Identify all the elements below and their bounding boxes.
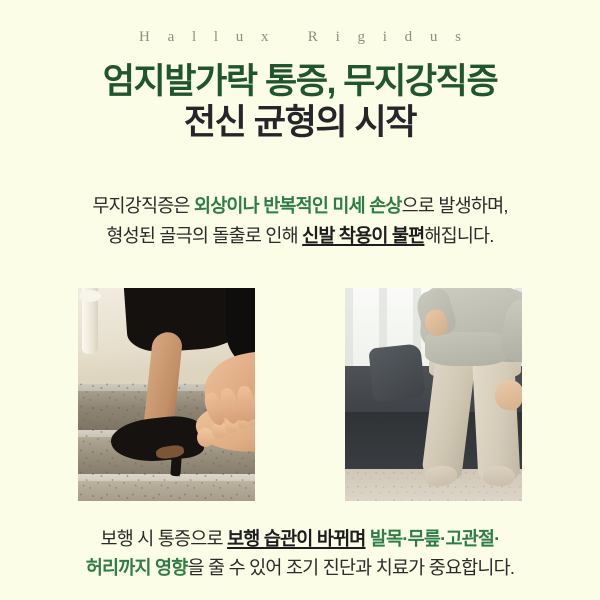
page-title: 엄지발가락 통증, 무지강직증 전신 균형의 시작 <box>103 62 498 143</box>
footer-row1-part1: 보행 시 통증으로 <box>101 528 228 549</box>
photo-strip <box>38 272 562 485</box>
lead-row-2: 형성된 골극의 돌출로 인해 신발 착용이 불편해집니다. <box>30 221 570 251</box>
eyebrow-latin-name: H a l l u x R i g i d u s <box>132 30 468 45</box>
photo-man-holding-back-and-knee <box>345 288 522 501</box>
footer-row1-highlight-green: 발목·무릎·고관절· <box>366 528 500 549</box>
shirt-tail <box>425 332 511 366</box>
lead-row1-highlight: 외상이나 반복적인 미세 손상 <box>194 195 402 216</box>
stair-railing-post <box>82 288 98 354</box>
footer-row-1: 보행 시 통증으로 보행 습관이 바뀌며 발목·무릎·고관절· <box>30 524 570 554</box>
photo-woman-holding-foot-on-stairs <box>78 288 255 501</box>
headline-line-1: 엄지발가락 통증, 무지강직증 <box>103 62 498 103</box>
infographic-card: H a l l u x R i g i d u s 엄지발가락 통증, 무지강직… <box>0 0 600 600</box>
lead-row2-part1: 형성된 골극의 돌출로 인해 <box>106 225 302 246</box>
footer-row2-part2: 을 줄 수 있어 조기 진단과 치료가 중요합니다. <box>187 557 514 578</box>
trouser-leg-right <box>472 347 521 481</box>
footer-row2-highlight-green: 허리까지 영향 <box>86 557 188 578</box>
footer-row1-highlight-dark: 보행 습관이 바뀌며 <box>227 528 365 549</box>
lead-row1-part3: 으로 발생하며, <box>402 195 508 216</box>
lead-paragraph: 무지강직증은 외상이나 반복적인 미세 손상으로 발생하며, 형성된 골극의 돌… <box>30 191 570 251</box>
footer-row-2: 허리까지 영향을 줄 수 있어 조기 진단과 치료가 중요합니다. <box>30 553 570 583</box>
sofa-cushion <box>368 343 425 402</box>
footer-paragraph: 보행 시 통증으로 보행 습관이 바뀌며 발목·무릎·고관절· 허리까지 영향을… <box>30 524 570 584</box>
headline-line-2: 전신 균형의 시작 <box>103 103 498 144</box>
lead-row2-highlight: 신발 착용이 불편 <box>302 225 424 246</box>
lead-row2-part3: 해집니다. <box>424 225 493 246</box>
lead-row-1: 무지강직증은 외상이나 반복적인 미세 손상으로 발생하며, <box>30 191 570 221</box>
lead-row1-part1: 무지강직증은 <box>92 195 194 216</box>
